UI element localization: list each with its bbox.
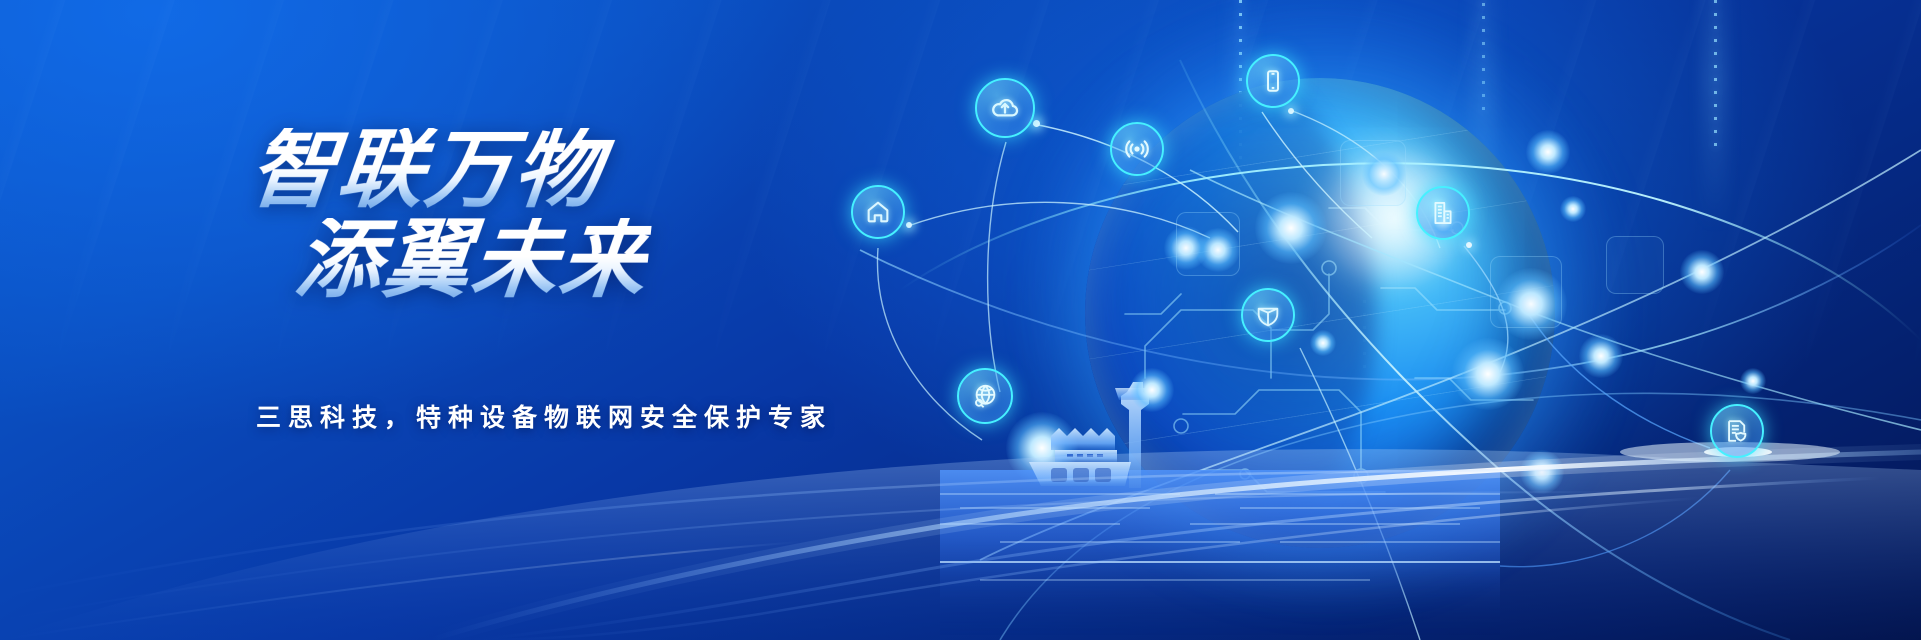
vertical-trail-glow-3 xyxy=(1702,0,1728,230)
cloud-upload-icon[interactable] xyxy=(975,78,1035,138)
vertical-dotted-trail-3 xyxy=(1714,0,1717,150)
banner-subtitle: 三思科技，特种设备物联网安全保护专家 xyxy=(256,398,832,434)
shield-cube-icon[interactable] xyxy=(1241,288,1295,342)
network-node-glow-14 xyxy=(1740,368,1766,394)
hero-banner: 智联万物 添翼未来 三思科技，特种设备物联网安全保护专家 xyxy=(0,0,1921,640)
building-icon[interactable] xyxy=(1416,186,1470,240)
wifi-signal-icon[interactable] xyxy=(1110,122,1164,176)
document-shield-icon[interactable] xyxy=(1710,404,1764,458)
smartphone-icon[interactable] xyxy=(1246,54,1300,108)
headline-line-1: 智联万物 xyxy=(246,128,653,212)
link-dot-1 xyxy=(1033,120,1040,127)
network-node-glow-13 xyxy=(1680,250,1724,294)
page-title: 智联万物 添翼未来 xyxy=(250,128,648,303)
headline-line-2: 添翼未来 xyxy=(292,218,653,302)
globe-network-icon[interactable] xyxy=(957,368,1013,424)
home-icon[interactable] xyxy=(851,185,905,239)
link-dot-2 xyxy=(906,222,912,228)
